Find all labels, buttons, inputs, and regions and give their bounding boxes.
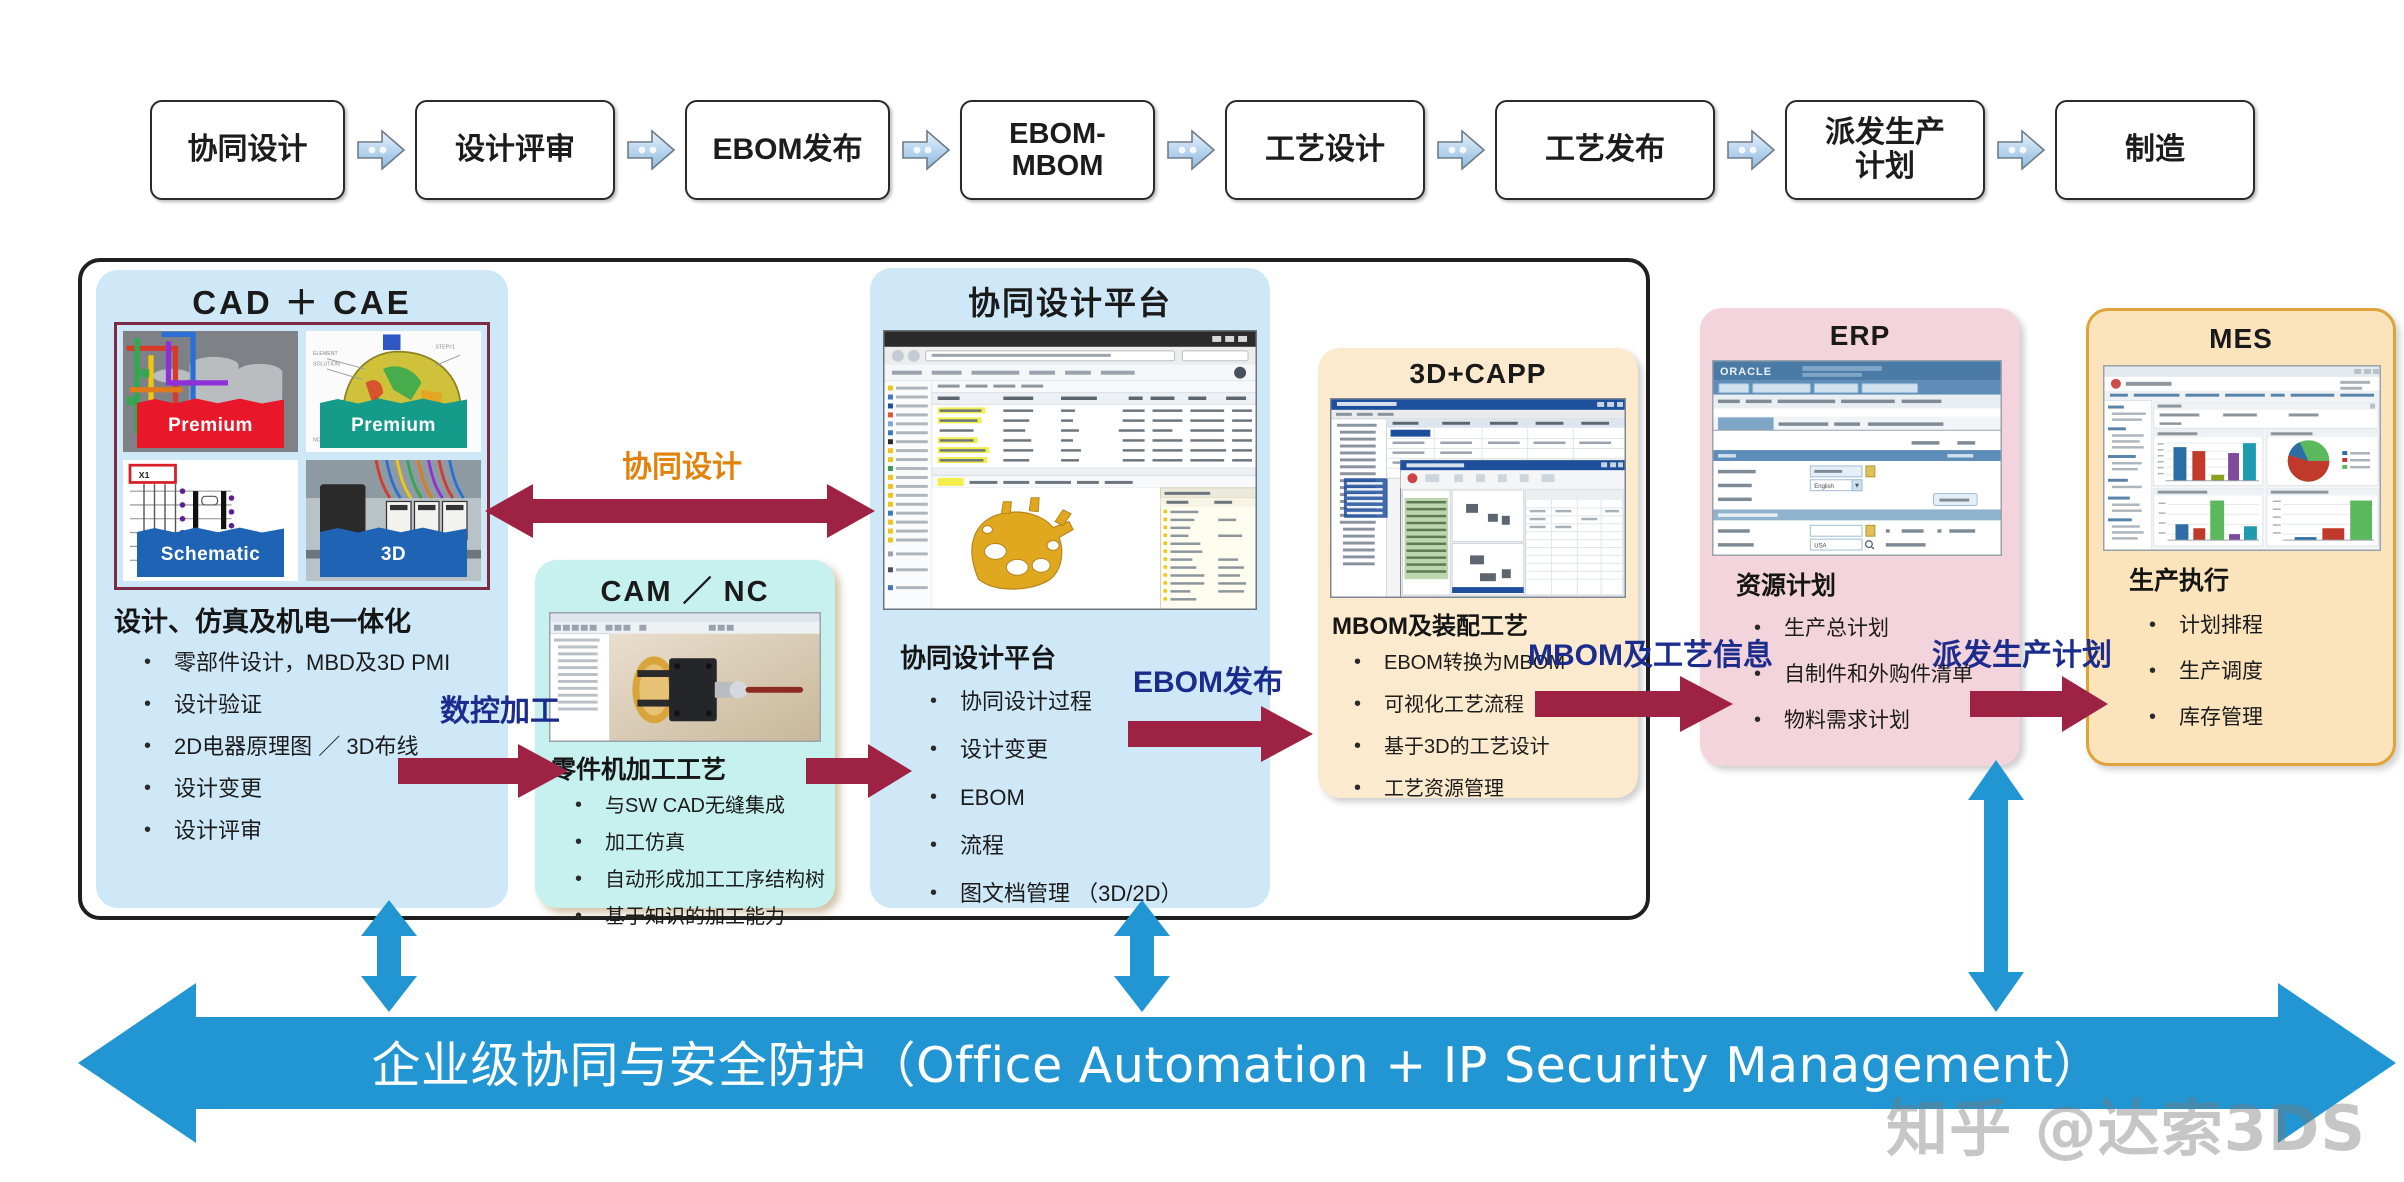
svg-text:ORACLE: ORACLE bbox=[1720, 366, 1772, 378]
cad-tile-premium-teal: ELEMENTSOLUTIONNODALSTEP=1 Premium bbox=[306, 331, 481, 452]
arrow-right-icon bbox=[1970, 676, 2108, 732]
cad-tile-schematic: X1 Schematic bbox=[123, 460, 298, 581]
panel-mes: MES bbox=[2086, 308, 2396, 766]
svg-text:ELEMENT: ELEMENT bbox=[313, 351, 339, 357]
mes-heading: 生产执行 bbox=[2129, 561, 2229, 597]
right-chevron-arrow-icon bbox=[352, 122, 408, 178]
plm-heading: 协同设计平台 bbox=[900, 638, 1056, 675]
flow-step-3[interactable]: EBOM- MBOM bbox=[960, 100, 1155, 200]
cam-screenshot bbox=[549, 612, 821, 742]
panel-plm-title: 协同设计平台 bbox=[870, 278, 1270, 324]
panel-cad-cae: CAD ＋ CAE Premium bbox=[96, 270, 508, 908]
flow-step-label: 协同设计 bbox=[188, 133, 308, 167]
svg-text:USA: USA bbox=[1814, 544, 1826, 550]
right-chevron-arrow-icon bbox=[1162, 122, 1218, 178]
mes-screenshot bbox=[2103, 365, 2381, 551]
svg-text:English: English bbox=[1814, 484, 1834, 490]
panel-cam-nc: CAM ／ NC bbox=[535, 560, 835, 908]
list-item: 工艺资源管理 bbox=[1384, 768, 1634, 810]
arrow-right-icon bbox=[1535, 676, 1733, 732]
list-item: 基于知识的加工能力 bbox=[605, 899, 835, 936]
list-item: 与SW CAD无缝集成 bbox=[605, 788, 835, 825]
cam-bullet-list: 与SW CAD无缝集成 加工仿真 自动形成加工工序结构树 基于知识的加工能力 bbox=[605, 788, 835, 936]
cam-heading: 零件机加工工艺 bbox=[551, 750, 726, 786]
cad-tile-badge: Premium bbox=[137, 404, 284, 448]
svg-text:X1: X1 bbox=[139, 470, 150, 480]
cad-tile-badge: Schematic bbox=[137, 533, 284, 577]
right-chevron-arrow-icon bbox=[1432, 122, 1488, 178]
flow-step-7[interactable]: 制造 bbox=[2055, 100, 2255, 200]
erp-screenshot: ORACLE English bbox=[1712, 360, 2002, 556]
list-item: 自动形成加工工序结构树 bbox=[605, 862, 835, 899]
plm-screenshot bbox=[883, 330, 1257, 610]
watermark: 知乎 @达索3DS bbox=[1886, 1078, 2366, 1168]
double-arrow-horizontal-icon bbox=[485, 480, 875, 542]
list-item: 加工仿真 bbox=[605, 825, 835, 862]
flow-step-label: 工艺发布 bbox=[1545, 133, 1665, 167]
cad-tile-premium-red: Premium bbox=[123, 331, 298, 452]
flow-step-1[interactable]: 设计评审 bbox=[415, 100, 615, 200]
list-item: 库存管理 bbox=[2179, 695, 2389, 741]
flow-step-label: 制造 bbox=[2125, 133, 2185, 167]
flow-step-label: EBOM发布 bbox=[713, 133, 863, 167]
panel-erp-title: ERP bbox=[1700, 320, 2020, 352]
flow-step-0[interactable]: 协同设计 bbox=[150, 100, 345, 200]
svg-text:STEP=1: STEP=1 bbox=[436, 344, 456, 350]
list-item: 计划排程 bbox=[2179, 603, 2389, 649]
arrow-right-icon bbox=[806, 744, 912, 798]
cad-tile-badge: Premium bbox=[320, 404, 467, 448]
flow-step-label: 工艺设计 bbox=[1265, 133, 1385, 167]
right-chevron-arrow-icon bbox=[622, 122, 678, 178]
erp-heading: 资源计划 bbox=[1736, 566, 1836, 602]
flow-step-label: 设计评审 bbox=[455, 133, 575, 167]
flow-step-2[interactable]: EBOM发布 bbox=[685, 100, 890, 200]
right-chevron-arrow-icon bbox=[1722, 122, 1778, 178]
cad-tile-badge: 3D bbox=[320, 533, 467, 577]
arrow-right-icon bbox=[1128, 706, 1313, 762]
right-chevron-arrow-icon bbox=[1992, 122, 2048, 178]
list-item: 基于3D的工艺设计 bbox=[1384, 726, 1634, 768]
double-arrow-vertical-icon bbox=[1962, 760, 2030, 1012]
cad-tile-3d: 3D bbox=[306, 460, 481, 581]
list-item: EBOM bbox=[960, 774, 1260, 822]
panel-capp-title: 3D+CAPP bbox=[1318, 358, 1638, 390]
connector-label-plm-capp: EBOM发布 bbox=[1133, 657, 1283, 701]
svg-text:SOLUTION: SOLUTION bbox=[313, 362, 340, 368]
panel-cam-nc-title: CAM ／ NC bbox=[535, 568, 835, 610]
connector-label-erp-mes: 派发生产计划 bbox=[1932, 630, 2112, 674]
list-item: 生产调度 bbox=[2179, 649, 2389, 695]
right-chevron-arrow-icon bbox=[897, 122, 953, 178]
flow-step-6[interactable]: 派发生产 计划 bbox=[1785, 100, 1985, 200]
panel-cad-cae-title: CAD ＋ CAE bbox=[96, 276, 508, 324]
capp-heading: MBOM及装配工艺 bbox=[1332, 606, 1528, 641]
flow-step-label: EBOM- MBOM bbox=[1009, 118, 1106, 183]
flow-step-5[interactable]: 工艺发布 bbox=[1495, 100, 1715, 200]
panel-collab-design-platform: 协同设计平台 bbox=[870, 268, 1270, 908]
capp-screenshot bbox=[1330, 398, 1626, 598]
list-item: 流程 bbox=[960, 822, 1260, 870]
process-flow-row: 协同设计 设计评审 EBOM发布 EBOM- MBOM 工艺设计 工艺发布 派发… bbox=[150, 95, 2285, 205]
list-item: 设计评审 bbox=[174, 810, 504, 852]
arrow-right-icon bbox=[398, 744, 568, 798]
list-item: 零部件设计，MBD及3D PMI bbox=[174, 642, 504, 684]
panel-mes-title: MES bbox=[2089, 323, 2393, 355]
flow-step-label: 派发生产 计划 bbox=[1825, 116, 1945, 183]
connector-label-capp-erp: MBOM及工艺信息 bbox=[1528, 630, 1773, 674]
connector-label-cad-cam: 数控加工 bbox=[440, 686, 560, 730]
mes-bullet-list: 计划排程 生产调度 库存管理 bbox=[2179, 603, 2389, 741]
cad-heading: 设计、仿真及机电一体化 bbox=[114, 600, 411, 639]
flow-step-4[interactable]: 工艺设计 bbox=[1225, 100, 1425, 200]
cad-tile-grid: Premium ELEMENTSOLUTIONNODALSTEP=1 Premi… bbox=[114, 322, 490, 590]
